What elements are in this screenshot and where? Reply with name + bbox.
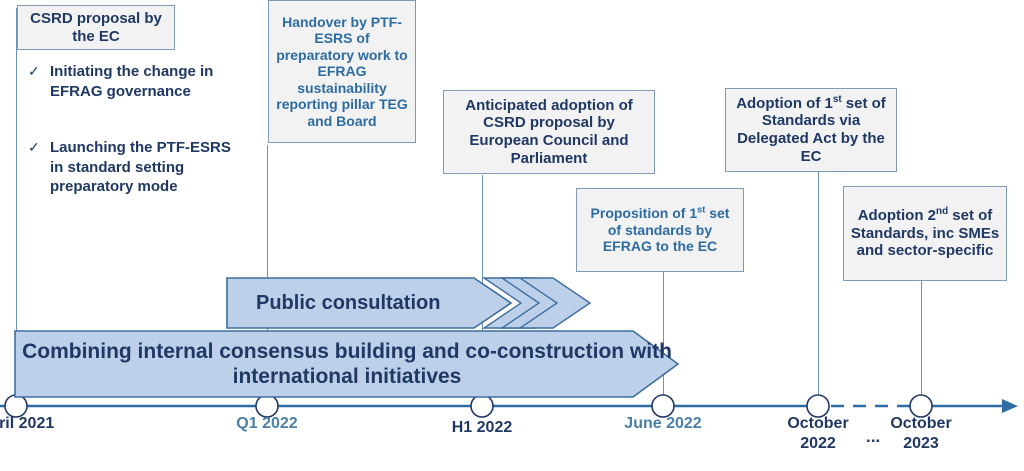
tick-label-october-2023: October 2023: [881, 414, 961, 454]
timeline-ellipsis: ...: [866, 427, 880, 447]
adoption-second-set-box[interactable]: Adoption 2nd set of Standards, inc SMEs …: [843, 186, 1007, 281]
tick-label-h1-2022: H1 2022: [432, 418, 532, 438]
adoption-second-set-text: Adoption 2nd set of Standards, inc SMEs …: [850, 207, 1000, 260]
list-item: ✓ Initiating the change in EFRAG governa…: [28, 62, 232, 101]
handover-box[interactable]: Handover by PTF-ESRS of preparatory work…: [268, 0, 416, 143]
combining-initiatives-arrow[interactable]: Combining internal consensus building an…: [14, 330, 680, 398]
check-icon: ✓: [28, 138, 50, 197]
csrd-bullet-list: ✓ Initiating the change in EFRAG governa…: [28, 62, 243, 202]
connector-october-2023: [921, 281, 922, 406]
anticipated-adoption-box[interactable]: Anticipated adoption of CSRD proposal by…: [443, 90, 655, 174]
check-icon: ✓: [28, 62, 50, 101]
csrd-proposal-box[interactable]: CSRD proposal by the EC: [17, 5, 175, 50]
public-consultation-arrow-shape: [227, 278, 511, 328]
list-item: ✓ Launching the PTF-ESRS in standard set…: [28, 138, 232, 197]
public-consultation-arrow[interactable]: Public consultation: [226, 277, 572, 329]
list-item-label: Launching the PTF-ESRS in standard setti…: [50, 138, 232, 197]
list-item-label: Initiating the change in EFRAG governanc…: [50, 62, 232, 101]
axis-arrowhead: [1002, 399, 1018, 413]
tick-label-april-2021: April 2021: [0, 414, 66, 434]
tick-label-q1-2022: Q1 2022: [217, 414, 317, 434]
adoption-first-set-box[interactable]: Adoption of 1st set of Standards via Del…: [725, 88, 897, 172]
tick-label-october-2022: October 2022: [778, 414, 858, 454]
adoption-first-set-text: Adoption of 1st set of Standards via Del…: [732, 95, 890, 166]
connector-october-2022: [818, 172, 819, 406]
combining-initiatives-arrow-shape: [15, 331, 678, 397]
proposition-first-set-text: Proposition of 1st set of standards by E…: [583, 205, 737, 255]
tick-marker-h1-2022: [471, 395, 493, 417]
proposition-first-set-box[interactable]: Proposition of 1st set of standards by E…: [576, 188, 744, 272]
timeline-diagram: CSRD proposal by the EC ✓ Initiating the…: [0, 0, 1024, 471]
tick-label-june-2022: June 2022: [605, 414, 721, 434]
